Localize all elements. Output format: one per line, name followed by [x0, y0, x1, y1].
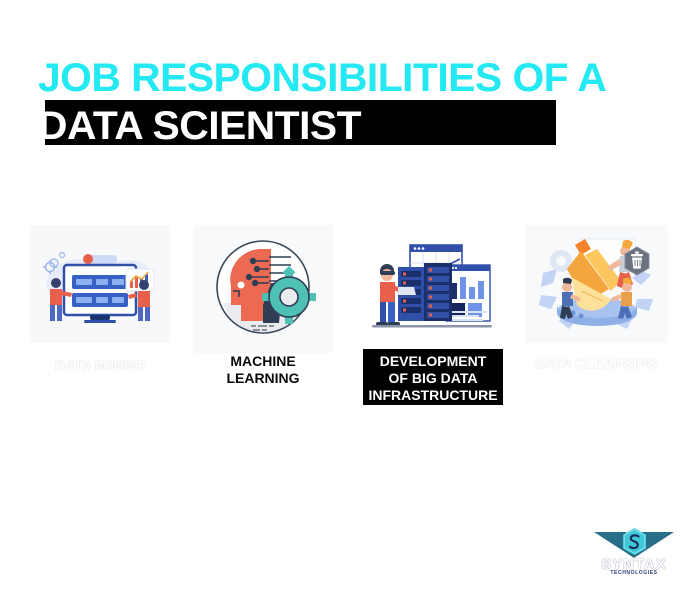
card-label-data-mining: DATA MINING: [30, 357, 170, 374]
card-label-big-data-line3: INFRASTRUCTURE: [368, 387, 497, 403]
card-label-big-data-line1: DEVELOPMENT: [380, 353, 487, 369]
responsibility-card-row: DATA MINING: [0, 225, 700, 425]
title-backdrop-bar-right: [368, 100, 556, 145]
card-label-machine-learning-line1: MACHINE: [230, 353, 295, 369]
page-title-line-1: JOB RESPONSIBILITIES OF A: [38, 56, 606, 100]
server-rack-right: [424, 263, 452, 321]
machine-learning-icon: [193, 225, 333, 353]
card-label-machine-learning-line2: LEARNING: [226, 370, 299, 386]
syntax-technologies-logo[interactable]: SYNTAX TECHNOLOGIES: [594, 528, 674, 580]
broom-cleaning-icon: [525, 225, 668, 343]
machine-learning-illustration: [193, 225, 333, 353]
responsibility-card-machine-learning[interactable]: MACHINE LEARNING: [193, 225, 333, 353]
responsibility-card-data-mining[interactable]: DATA MINING: [30, 225, 170, 343]
server-rack-icon: [358, 225, 508, 345]
responsibility-card-data-cleansing[interactable]: DATA CLEANSING: [525, 225, 668, 343]
data-mining-icon: [30, 225, 170, 343]
card-label-big-data-line2: OF BIG DATA: [389, 370, 478, 386]
responsibility-card-big-data-infrastructure[interactable]: DEVELOPMENT OF BIG DATA INFRASTRUCTURE: [358, 225, 508, 345]
logo-hex-s-icon: [622, 528, 647, 556]
big-data-infrastructure-illustration: [358, 225, 508, 345]
page-title-line-2: DATA SCIENTIST: [38, 104, 361, 148]
logo-subtitle: TECHNOLOGIES: [594, 570, 674, 576]
page-title-block: JOB RESPONSIBILITIES OF A DATA SCIENTIST: [0, 0, 700, 175]
card-label-big-data-infrastructure: DEVELOPMENT OF BIG DATA INFRASTRUCTURE: [358, 353, 508, 404]
card-label-data-cleansing: DATA CLEANSING: [525, 355, 668, 372]
data-cleansing-illustration: [525, 225, 668, 343]
data-mining-illustration: [30, 225, 170, 343]
card-label-machine-learning: MACHINE LEARNING: [193, 353, 333, 387]
